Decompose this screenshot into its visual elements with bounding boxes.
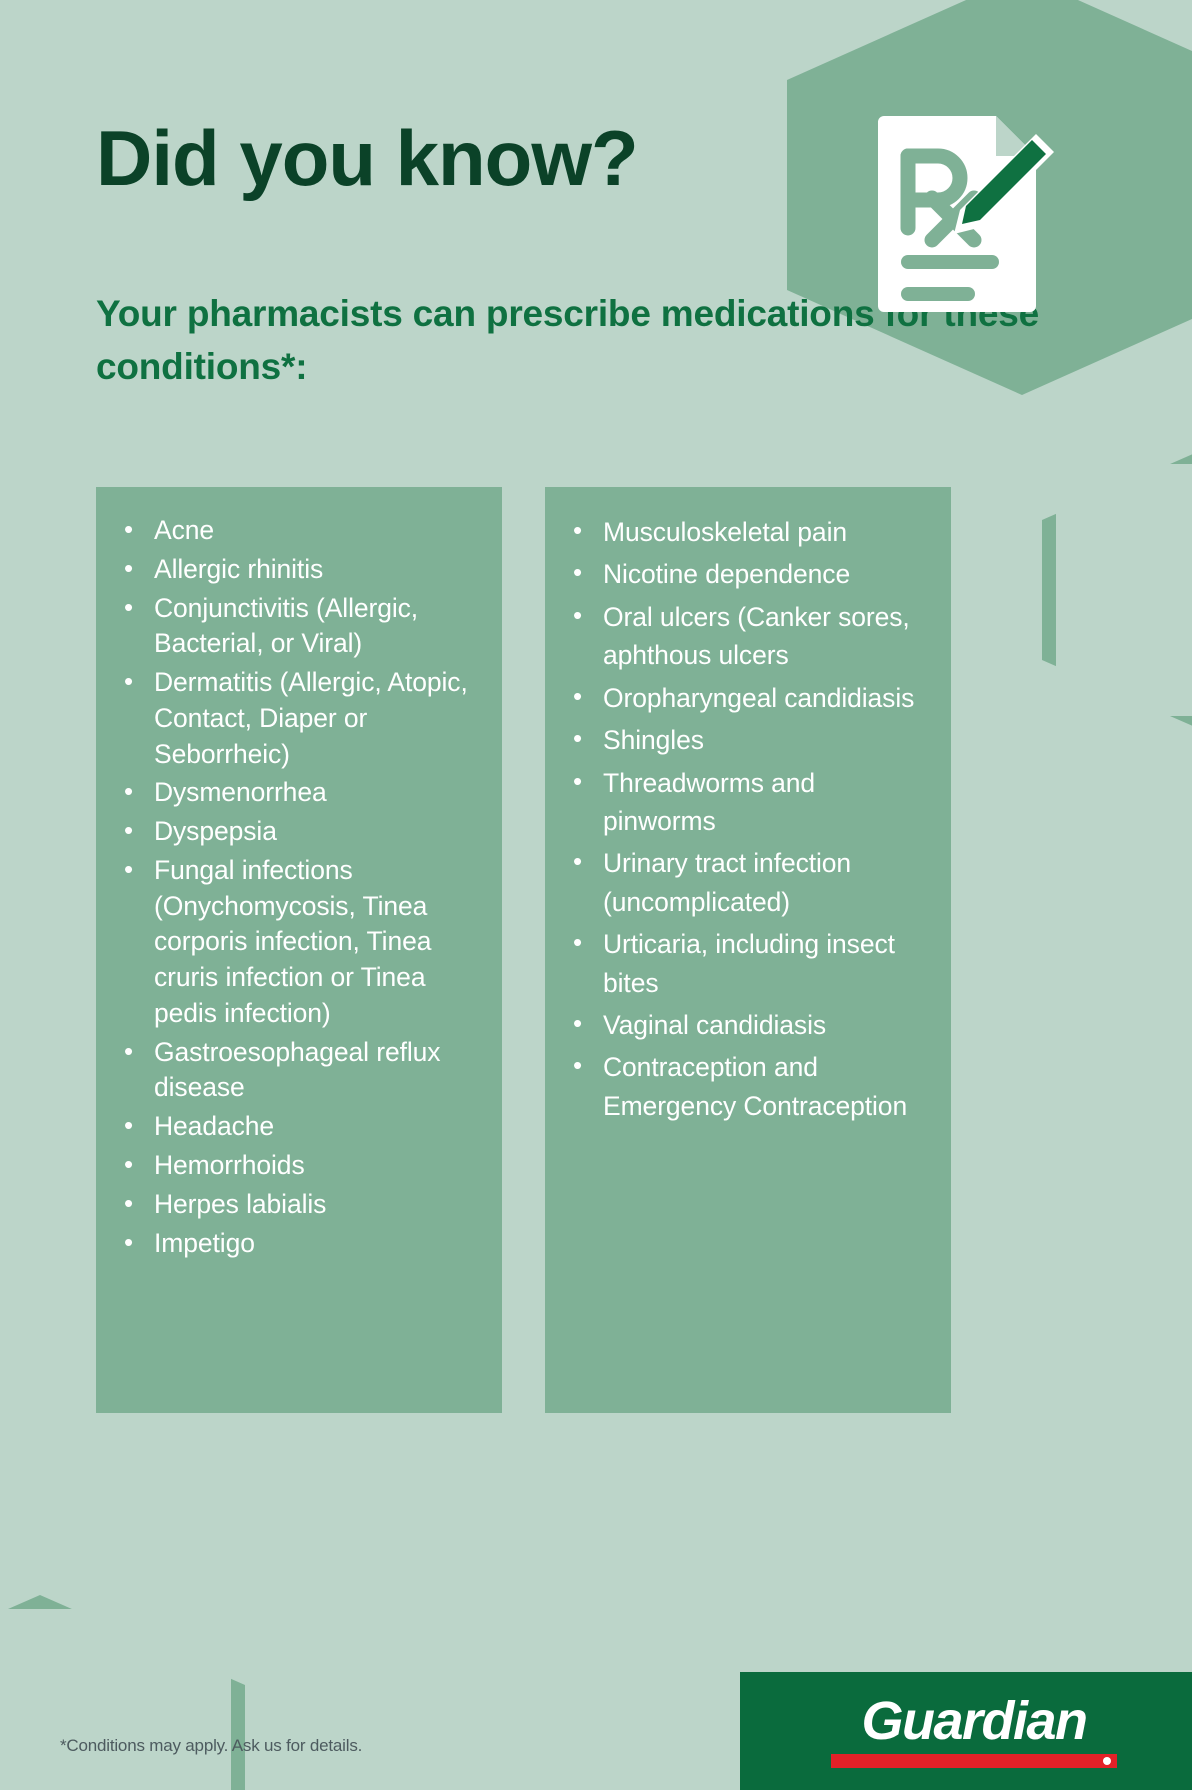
list-item: Threadworms and pinworms	[567, 764, 933, 841]
list-item: Acne	[118, 513, 484, 549]
list-item: Headache	[118, 1109, 484, 1145]
poster-root: Did you know? Your pharmacists can presc…	[0, 0, 1192, 1790]
list-item: Urticaria, including insect bites	[567, 925, 933, 1002]
list-item: Dysmenorrhea	[118, 775, 484, 811]
list-item: Gastroesophageal reflux disease	[118, 1035, 484, 1107]
conditions-list-right: Musculoskeletal pain Nicotine dependence…	[567, 513, 933, 1125]
list-item: Impetigo	[118, 1226, 484, 1262]
list-item: Dermatitis (Allergic, Atopic, Contact, D…	[118, 665, 484, 772]
list-item: Vaginal candidiasis	[567, 1006, 933, 1044]
conditions-card-left: Acne Allergic rhinitis Conjunctivitis (A…	[96, 487, 502, 1413]
list-item: Oropharyngeal candidiasis	[567, 679, 933, 717]
hexagon-outline-decoration-right	[1042, 450, 1192, 730]
list-item: Herpes labialis	[118, 1187, 484, 1223]
list-item: Allergic rhinitis	[118, 552, 484, 588]
list-item: Conjunctivitis (Allergic, Bacterial, or …	[118, 591, 484, 663]
disclaimer-text: *Conditions may apply. Ask us for detail…	[60, 1736, 362, 1756]
list-item: Hemorrhoids	[118, 1148, 484, 1184]
conditions-card-right: Musculoskeletal pain Nicotine dependence…	[545, 487, 951, 1413]
list-item: Oral ulcers (Canker sores, aphthous ulce…	[567, 598, 933, 675]
guardian-logo-text: Guardian	[861, 1694, 1086, 1748]
list-item: Musculoskeletal pain	[567, 513, 933, 551]
list-item: Contraception and Emergency Contraceptio…	[567, 1048, 933, 1125]
list-item: Fungal infections (Onychomycosis, Tinea …	[118, 853, 484, 1032]
guardian-logo-dot-icon	[1103, 1757, 1111, 1765]
guardian-logo-underline	[831, 1754, 1117, 1768]
prescription-rx-icon	[872, 110, 1072, 325]
list-item: Dyspepsia	[118, 814, 484, 850]
guardian-logo: Guardian	[740, 1672, 1192, 1790]
conditions-list-left: Acne Allergic rhinitis Conjunctivitis (A…	[118, 513, 484, 1261]
list-item: Urinary tract infection (uncomplicated)	[567, 844, 933, 921]
list-item: Nicotine dependence	[567, 555, 933, 593]
page-title: Did you know?	[96, 118, 638, 200]
list-item: Shingles	[567, 721, 933, 759]
hexagon-outline-decoration-bottom-left	[0, 1595, 245, 1790]
